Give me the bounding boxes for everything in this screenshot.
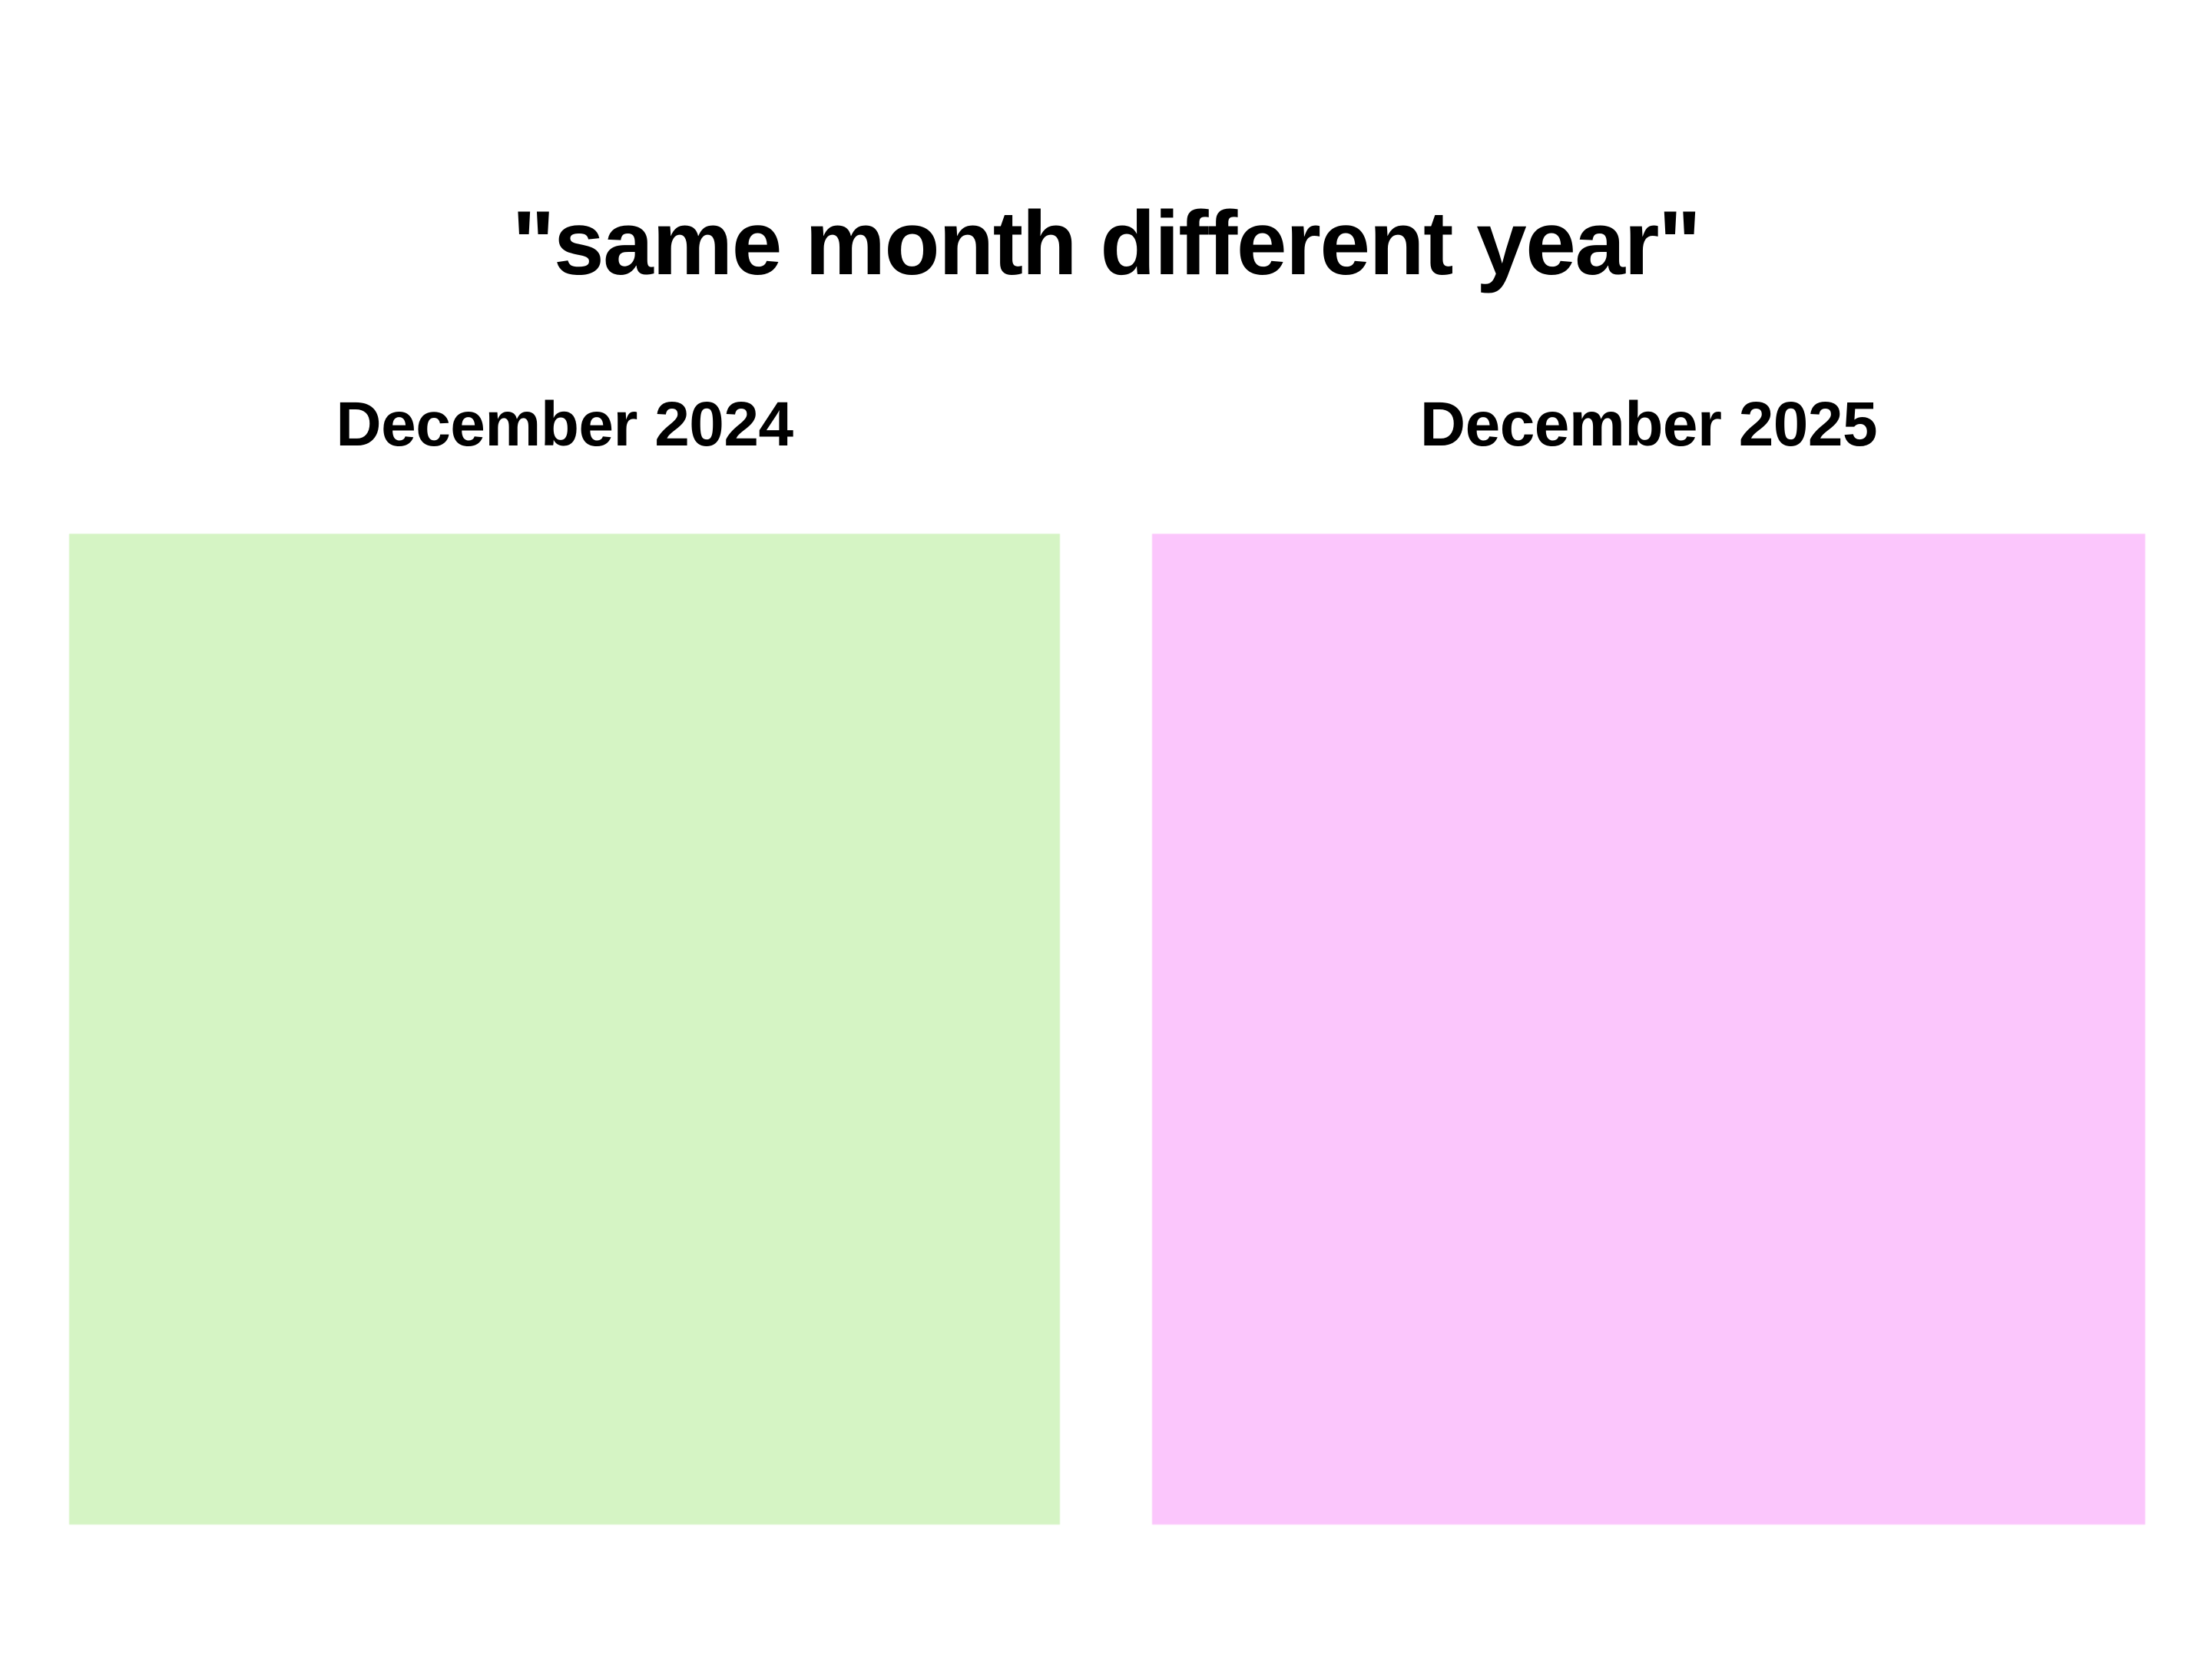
footer-whitespace <box>0 1528 2212 1659</box>
comparison-row: December 2024 December 2025 <box>0 0 2212 1659</box>
panel-caption-right: December 2025 <box>1152 390 2145 459</box>
panel-image-left <box>69 534 1060 1525</box>
page-canvas: "same month different year" December 202… <box>0 0 2212 1659</box>
panel-caption-left: December 2024 <box>69 390 1060 459</box>
panel-image-right <box>1152 534 2145 1525</box>
